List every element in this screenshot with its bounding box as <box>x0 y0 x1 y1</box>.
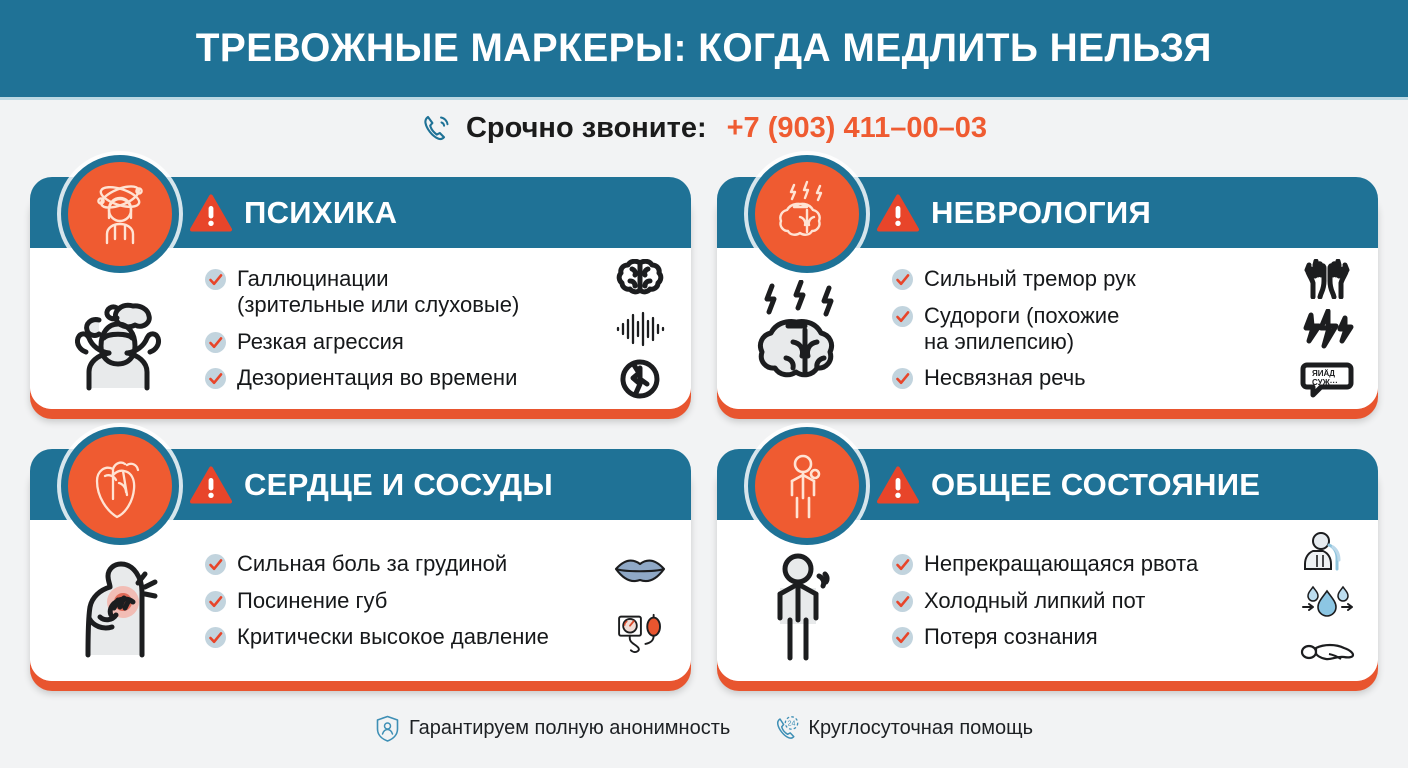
page-title: ТРЕВОЖНЫЕ МАРКЕРЫ: КОГДА МЕДЛИТЬ НЕЛЬЗЯ <box>196 26 1212 71</box>
card-body: ПСИХИКА <box>30 177 691 409</box>
check-icon <box>892 627 913 648</box>
bullet-text: Сильный тремор рук <box>924 266 1136 292</box>
bullet-text: Посинение губ <box>237 588 387 614</box>
phone-24h-icon: 24 <box>774 715 799 742</box>
bullet-text: Галлюцинации (зрительные или слуховые) <box>237 266 519 317</box>
card-heart: СЕРДЦЕ И СОСУДЫ <box>30 449 691 697</box>
bullet-text: Несвязная речь <box>924 365 1086 391</box>
check-icon <box>892 368 913 389</box>
phone-cta-row: Срочно звоните: +7 (903) 411–00–03 <box>0 97 1408 159</box>
card-title: НЕВРОЛОГИЯ <box>931 195 1151 231</box>
blood-pressure-monitor-icon <box>612 613 668 653</box>
svg-text:ЯИÄД: ЯИÄД <box>1312 369 1335 378</box>
check-icon <box>892 591 913 612</box>
bullet-list: Сильный тремор рук Судороги (похожие на … <box>892 248 1282 409</box>
list-item: Критически высокое давление <box>205 624 589 650</box>
check-icon <box>205 554 226 575</box>
shaking-hands-icon <box>1299 259 1355 299</box>
list-item: Резкая агрессия <box>205 329 589 355</box>
warning-triangle-icon <box>190 466 232 504</box>
sweat-drops-icon <box>1299 581 1355 621</box>
footer-item-anonymity: Гарантируем полную анонимность <box>375 715 730 742</box>
bullet-text: Судороги (похожие на эпилепсию) <box>924 303 1119 354</box>
heart-anatomy-icon <box>61 427 179 545</box>
check-icon <box>205 627 226 648</box>
vomiting-person-icon <box>1299 531 1355 571</box>
card-psyche: ПСИХИКА <box>30 177 691 425</box>
dizzy-head-icon <box>61 155 179 273</box>
person-nausea-icon <box>748 427 866 545</box>
blue-lips-icon <box>612 549 668 589</box>
warning-triangle-icon <box>190 194 232 232</box>
card-general: ОБЩЕЕ СОСТОЯНИЕ <box>717 449 1378 697</box>
broken-clock-icon <box>612 359 668 399</box>
footer-item-24h: 24 Круглосуточная помощь <box>774 715 1033 742</box>
bullet-text: Непрекращающаяся рвота <box>924 551 1198 577</box>
phone-label: Срочно звоните: <box>466 112 707 145</box>
unconscious-person-icon <box>1299 631 1355 671</box>
footer-item-label: Гарантируем полную анонимность <box>409 717 730 740</box>
check-icon <box>892 269 913 290</box>
card-body: НЕВРОЛОГИЯ <box>717 177 1378 409</box>
bullet-text: Критически высокое давление <box>237 624 549 650</box>
list-item: Судороги (похожие на эпилепсию) <box>892 303 1276 354</box>
bullet-text: Резкая агрессия <box>237 329 404 355</box>
bullet-list: Сильная боль за грудиной Посинение губ К… <box>205 520 595 681</box>
right-icon-column: ЯИÄД СУЖ··· <box>1282 248 1378 409</box>
brain-lightning-icon <box>748 155 866 273</box>
sound-wave-icon <box>612 309 668 349</box>
check-icon <box>892 306 913 327</box>
card-body: ОБЩЕЕ СОСТОЯНИЕ <box>717 449 1378 681</box>
bullet-list: Галлюцинации (зрительные или слуховые) Р… <box>205 248 595 409</box>
bullet-text: Дезориентация во времени <box>237 365 517 391</box>
warning-triangle-icon <box>877 466 919 504</box>
footer-item-label: Круглосуточная помощь <box>808 717 1033 740</box>
footer-trust-row: Гарантируем полную анонимность 24 Кругло… <box>0 715 1408 742</box>
svg-text:СУЖ···: СУЖ··· <box>1312 378 1338 387</box>
bullet-list: Непрекращающаяся рвота Холодный липкий п… <box>892 520 1282 681</box>
cards-grid: ПСИХИКА <box>30 177 1378 697</box>
card-title: СЕРДЦЕ И СОСУДЫ <box>244 467 553 503</box>
list-item: Холодный липкий пот <box>892 588 1276 614</box>
check-icon <box>205 368 226 389</box>
list-item: Потеря сознания <box>892 624 1276 650</box>
check-icon <box>205 332 226 353</box>
check-icon <box>892 554 913 575</box>
phone-ringing-icon <box>421 112 453 144</box>
right-icon-column <box>595 248 691 409</box>
right-icon-column <box>595 520 691 681</box>
list-item: Дезориентация во времени <box>205 365 589 391</box>
bullet-text: Потеря сознания <box>924 624 1098 650</box>
card-neurology: НЕВРОЛОГИЯ <box>717 177 1378 425</box>
svg-text:24: 24 <box>788 721 796 728</box>
bullet-text: Сильная боль за грудиной <box>237 551 507 577</box>
list-item: Сильная боль за грудиной <box>205 551 589 577</box>
phone-number[interactable]: +7 (903) 411–00–03 <box>727 112 987 145</box>
warning-triangle-icon <box>877 194 919 232</box>
check-icon <box>205 591 226 612</box>
garbled-speech-icon: ЯИÄД СУЖ··· <box>1299 359 1355 399</box>
list-item: Сильный тремор рук <box>892 266 1276 292</box>
card-body: СЕРДЦЕ И СОСУДЫ <box>30 449 691 681</box>
brain-top-icon <box>612 259 668 299</box>
card-title: ОБЩЕЕ СОСТОЯНИЕ <box>931 467 1260 503</box>
lightning-bolts-icon <box>1299 309 1355 349</box>
header-bar: ТРЕВОЖНЫЕ МАРКЕРЫ: КОГДА МЕДЛИТЬ НЕЛЬЗЯ <box>0 0 1408 97</box>
list-item: Галлюцинации (зрительные или слуховые) <box>205 266 589 317</box>
list-item: Посинение губ <box>205 588 589 614</box>
list-item: Непрекращающаяся рвота <box>892 551 1276 577</box>
list-item: Несвязная речь <box>892 365 1276 391</box>
card-title: ПСИХИКА <box>244 195 397 231</box>
bullet-text: Холодный липкий пот <box>924 588 1145 614</box>
check-icon <box>205 269 226 290</box>
shield-person-icon <box>375 715 400 742</box>
right-icon-column <box>1282 520 1378 681</box>
